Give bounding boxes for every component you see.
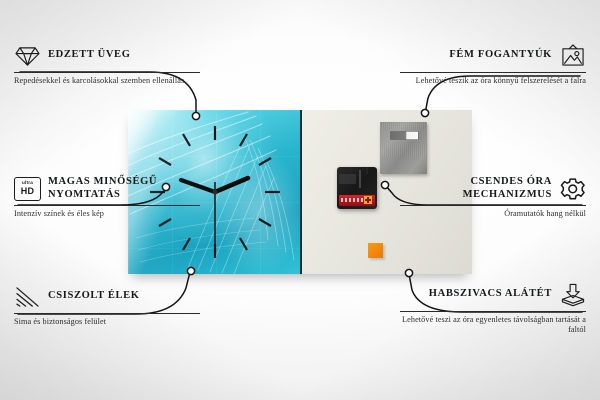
feature-foam-pad: HABSZIVACS ALÁTÉT Lehetővé teszi az óra … [400, 281, 586, 336]
hd-main-text: HD [21, 187, 34, 196]
mechanism-seam [359, 170, 361, 188]
battery [339, 195, 375, 206]
press-down-pad-icon [559, 281, 586, 308]
feature-description: Sima és biztonságos felület [14, 317, 200, 327]
feature-divider [14, 313, 200, 314]
feature-tempered-glass: EDZETT ÜVEG Repedésekkel és karcolásokka… [14, 42, 200, 86]
clock-center-cap [213, 190, 218, 195]
feature-divider [14, 72, 200, 73]
mechanism-label [339, 174, 356, 184]
feature-description: Repedésekkel és karcolásokkal szemben el… [14, 76, 200, 86]
feature-header: EDZETT ÜVEG [14, 42, 200, 69]
feature-metal-hangers: FÉM FOGANTYÚK Lehetővé teszik az óra kön… [400, 42, 586, 86]
feature-divider [400, 311, 586, 312]
feature-description: Lehetővé teszik az óra könnyű felszerelé… [400, 76, 586, 86]
hour-hand [215, 178, 248, 192]
foam-spacer-pad [368, 243, 383, 258]
feature-header: CSISZOLT ÉLEK [14, 283, 200, 310]
feature-divider [400, 205, 586, 206]
feature-quiet-mechanism: CSENDES ÓRA MECHANIZMUS Óramutatók hang … [400, 175, 586, 219]
feature-polished-edges: CSISZOLT ÉLEK Sima és biztonságos felüle… [14, 283, 200, 327]
feature-description: Intenzív színek és éles kép [14, 209, 200, 219]
feature-header: HABSZIVACS ALÁTÉT [400, 281, 586, 308]
feature-title: CSENDES ÓRA MECHANIZMUS [400, 176, 552, 201]
infographic-canvas: EDZETT ÜVEG Repedésekkel és karcolásokka… [0, 0, 600, 400]
feature-divider [14, 205, 200, 206]
feature-header: FÉM FOGANTYÚK [400, 42, 586, 69]
ultra-hd-badge-icon: ultra HD [14, 175, 41, 202]
feature-title: HABSZIVACS ALÁTÉT [429, 288, 552, 301]
feature-title: MAGAS MINŐSÉGŰ NYOMTATÁS [48, 176, 200, 201]
plate-grain [380, 122, 427, 174]
hanger-slot [389, 131, 419, 140]
gear-icon [559, 175, 586, 202]
feature-title: FÉM FOGANTYÚK [449, 49, 552, 62]
diamond-icon [14, 42, 41, 69]
feature-description: Lehetővé teszi az óra egyenletes távolsá… [400, 315, 586, 336]
feature-divider [400, 72, 586, 73]
clock-mechanism [337, 167, 377, 209]
feature-title: EDZETT ÜVEG [48, 49, 131, 62]
feature-header: CSENDES ÓRA MECHANIZMUS [400, 175, 586, 202]
picture-hanger-icon [559, 42, 586, 69]
feature-description: Óramutatók hang nélkül [400, 209, 586, 219]
metal-hanger-plate [380, 122, 427, 174]
battery-plus-terminal [364, 196, 372, 204]
feature-header: ultra HD MAGAS MINŐSÉGŰ NYOMTATÁS [14, 175, 200, 202]
feature-title: CSISZOLT ÉLEK [48, 290, 140, 303]
feature-high-quality-print: ultra HD MAGAS MINŐSÉGŰ NYOMTATÁS Intenz… [14, 175, 200, 219]
polished-edge-icon [14, 283, 41, 310]
battery-text [341, 198, 363, 202]
